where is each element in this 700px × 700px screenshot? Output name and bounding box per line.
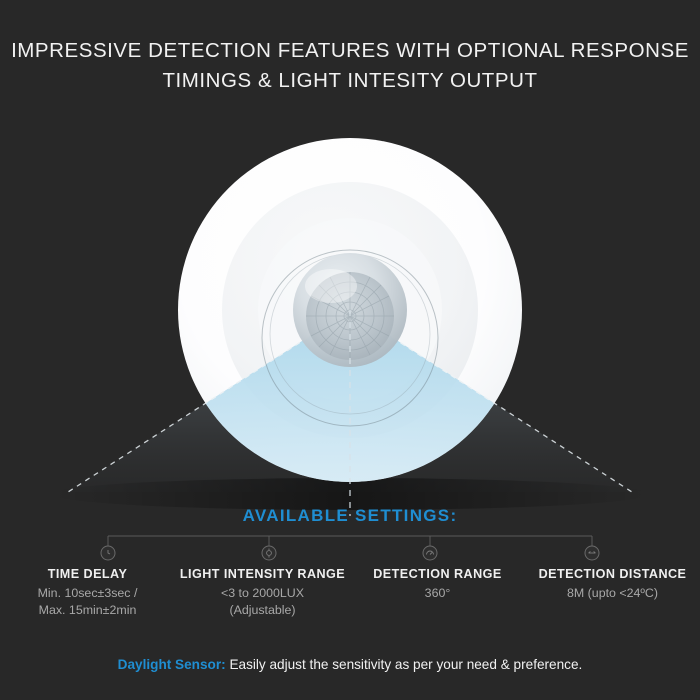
daylight-sensor-label: Daylight Sensor:: [118, 657, 226, 672]
setting-title: DETECTION RANGE: [354, 566, 521, 582]
settings-icon-badge-detection-range: [423, 546, 437, 560]
settings-icon-badge-light-intensity: [262, 546, 276, 560]
settings-columns: TIME DELAY Min. 10sec±3sec / Max. 15min±…: [0, 566, 700, 636]
setting-column-light-intensity-range: LIGHT INTENSITY RANGE <3 to 2000LUX (Adj…: [175, 566, 350, 636]
setting-title: LIGHT INTENSITY RANGE: [179, 566, 346, 582]
setting-detail: 360°: [354, 585, 521, 602]
setting-title: TIME DELAY: [4, 566, 171, 582]
poster-canvas: IMPRESSIVE DETECTION FEATURES WITH OPTIO…: [0, 0, 700, 700]
setting-column-detection-range: DETECTION RANGE 360°: [350, 566, 525, 636]
daylight-sensor-note: Daylight Sensor: Easily adjust the sensi…: [0, 655, 700, 675]
dome-highlight: [305, 269, 357, 303]
sensor-illustration: [0, 120, 700, 520]
setting-detail: <3 to 2000LUX (Adjustable): [179, 585, 346, 619]
setting-title: DETECTION DISTANCE: [529, 566, 696, 582]
page-title: IMPRESSIVE DETECTION FEATURES WITH OPTIO…: [0, 36, 700, 96]
setting-column-time-delay: TIME DELAY Min. 10sec±3sec / Max. 15min±…: [0, 566, 175, 636]
setting-column-detection-distance: DETECTION DISTANCE 8M (upto <24ºC): [525, 566, 700, 636]
setting-detail: 8M (upto <24ºC): [529, 585, 696, 602]
settings-connector: [0, 530, 700, 570]
setting-detail: Min. 10sec±3sec / Max. 15min±2min: [4, 585, 171, 619]
daylight-sensor-text: Easily adjust the sensitivity as per you…: [226, 657, 583, 672]
available-settings-title: AVAILABLE SETTINGS:: [0, 506, 700, 526]
